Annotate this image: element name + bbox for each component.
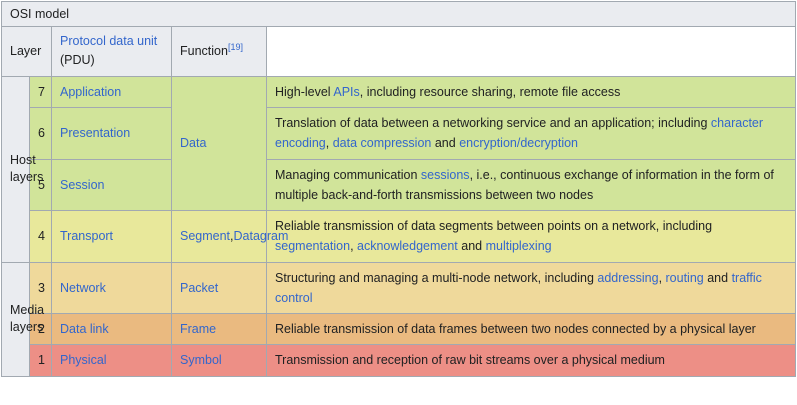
layer-name: Data link: [52, 314, 172, 345]
table-row: 6 Presentation Translation of data betwe…: [2, 108, 796, 160]
inline-link[interactable]: Segment: [180, 229, 230, 243]
inline-link[interactable]: segmentation: [275, 239, 350, 253]
pdu-data-link[interactable]: Data: [180, 136, 206, 150]
inline-text: ,: [350, 239, 357, 253]
column-header-layer: Layer: [2, 27, 52, 77]
pdu-value: Frame: [172, 314, 267, 345]
layer-function: Reliable transmission of data frames bet…: [267, 314, 796, 345]
layer-name: Presentation: [52, 108, 172, 160]
pdu-header-link[interactable]: Protocol data unit: [60, 34, 157, 48]
layer-name-link[interactable]: Data link: [60, 322, 109, 336]
layer-function: Transmission and reception of raw bit st…: [267, 345, 796, 376]
pdu-header-abbr: (PDU): [60, 53, 95, 67]
layer-name-link[interactable]: Network: [60, 281, 106, 295]
inline-text: Translation of data between a networking…: [275, 116, 711, 130]
layer-name-link[interactable]: Session: [60, 178, 104, 192]
layer-name: Transport: [52, 211, 172, 263]
group-label-media-layers: Media layers: [2, 262, 30, 376]
inline-text: Reliable transmission of data segments b…: [275, 219, 712, 233]
layer-function: Reliable transmission of data segments b…: [267, 211, 796, 263]
layer-number: 7: [30, 76, 52, 107]
column-header-pdu: Protocol data unit (PDU): [52, 27, 172, 77]
inline-link[interactable]: sessions: [421, 168, 470, 182]
layer-name: Session: [52, 159, 172, 211]
inline-text: Reliable transmission of data frames bet…: [275, 322, 756, 336]
inline-text: Managing communication: [275, 168, 421, 182]
inline-link[interactable]: addressing: [597, 271, 658, 285]
layer-name: Application: [52, 76, 172, 107]
table-row: 4 Transport Segment,Datagram Reliable tr…: [2, 211, 796, 263]
layer-function: Structuring and managing a multi-node ne…: [267, 262, 796, 314]
reference-link-19[interactable]: [19]: [228, 42, 243, 52]
layer-name-link[interactable]: Presentation: [60, 126, 130, 140]
inline-link[interactable]: multiplexing: [486, 239, 552, 253]
function-header-label: Function: [180, 44, 228, 58]
inline-link[interactable]: APIs: [333, 85, 359, 99]
layer-name-link[interactable]: Physical: [60, 353, 107, 367]
media-layers-line1: Media: [10, 303, 44, 317]
inline-text: ,: [659, 271, 666, 285]
layer-name-link[interactable]: Transport: [60, 229, 113, 243]
inline-text: Structuring and managing a multi-node ne…: [275, 271, 597, 285]
inline-text: , including resource sharing, remote fil…: [360, 85, 621, 99]
layer-name-link[interactable]: Application: [60, 85, 121, 99]
inline-text: Transmission and reception of raw bit st…: [275, 353, 665, 367]
layer-number: 1: [30, 345, 52, 376]
pdu-link[interactable]: Symbol: [180, 353, 222, 367]
layer-name: Network: [52, 262, 172, 314]
layer-function: Translation of data between a networking…: [267, 108, 796, 160]
pdu-value: Symbol: [172, 345, 267, 376]
inline-text: and: [704, 271, 732, 285]
table-row: 1 Physical Symbol Transmission and recep…: [2, 345, 796, 376]
host-layers-line1: Host: [10, 153, 36, 167]
table-title: OSI model: [2, 2, 796, 27]
table-title-row: OSI model: [2, 2, 796, 27]
layer-function: High-level APIs, including resource shar…: [267, 76, 796, 107]
layer-number: 4: [30, 211, 52, 263]
pdu-link[interactable]: Packet: [180, 281, 218, 295]
inline-link[interactable]: acknowledgement: [357, 239, 458, 253]
table-header-row: Layer Protocol data unit (PDU) Function[…: [2, 27, 796, 77]
reference-marker: [19]: [228, 42, 243, 52]
pdu-value-data: Data: [172, 76, 267, 210]
inline-link[interactable]: encryption/decryption: [459, 136, 578, 150]
table-row: 5 Session Managing communication session…: [2, 159, 796, 211]
table-row: Host layers 7 Application Data High-leve…: [2, 76, 796, 107]
pdu-value: Segment,Datagram: [172, 211, 267, 263]
inline-text: and: [431, 136, 459, 150]
inline-text: High-level: [275, 85, 333, 99]
layer-function: Managing communication sessions, i.e., c…: [267, 159, 796, 211]
table-row: 2 Data link Frame Reliable transmission …: [2, 314, 796, 345]
pdu-value: Packet: [172, 262, 267, 314]
layer-name: Physical: [52, 345, 172, 376]
inline-text: ,: [326, 136, 333, 150]
inline-link[interactable]: data compression: [333, 136, 432, 150]
inline-text: and: [458, 239, 486, 253]
group-label-host-layers: Host layers: [2, 76, 30, 262]
pdu-link[interactable]: Frame: [180, 322, 216, 336]
column-header-function: Function[19]: [172, 27, 267, 77]
table-row: Media layers 3 Network Packet Structurin…: [2, 262, 796, 314]
osi-model-table: OSI model Layer Protocol data unit (PDU)…: [1, 1, 796, 377]
inline-link[interactable]: routing: [666, 271, 704, 285]
